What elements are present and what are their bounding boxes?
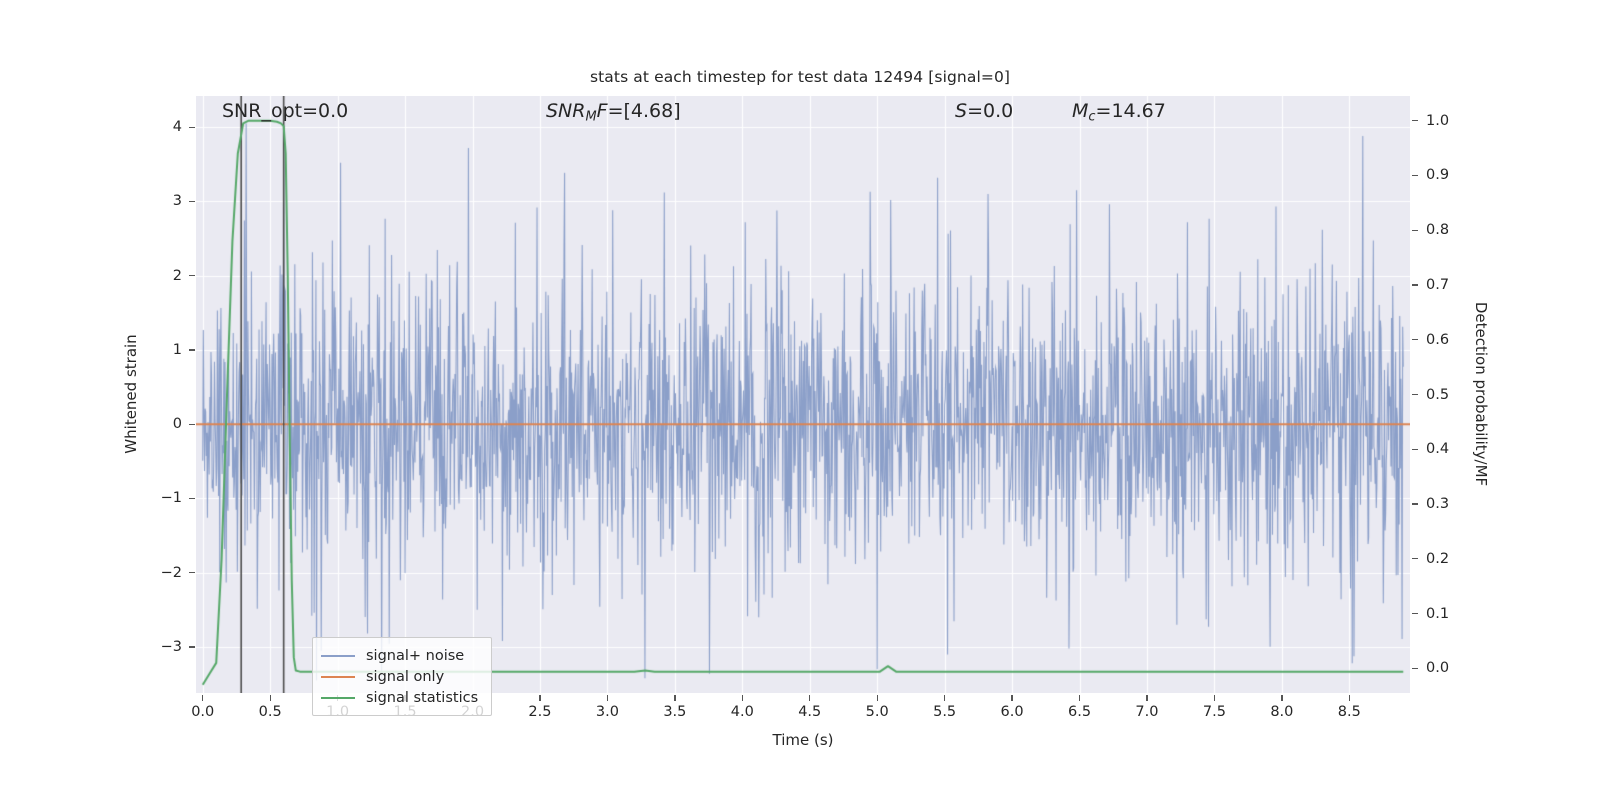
y-tick-label-right: 0.6 [1426,332,1449,348]
y-tick-label-right: 0.4 [1426,441,1449,457]
annotation-snr-mf-label2: F [597,100,608,122]
x-tick-mark [1011,695,1012,701]
annotation-chirp-mass-sub: c [1088,110,1095,125]
legend-item-signal-statistics[interactable]: signal statistics [321,687,481,708]
y-axis-label-right: Detection probability/MF [1472,302,1490,486]
y-tick-label-left: 0 [138,416,182,432]
annotation-snr-opt: SNR_opt=0.0 [222,100,348,122]
x-tick-mark [809,695,810,701]
plot-area[interactable] [196,96,1410,693]
x-tick-mark [742,695,743,701]
x-tick-label: 3.5 [663,704,686,720]
x-tick-mark [1349,695,1350,701]
x-tick-label: 0.5 [259,704,282,720]
annotation-s-stat-eq: = [967,100,983,122]
x-tick-mark [607,695,608,701]
annotation-snr-mf-value: [4.68] [623,100,680,122]
x-tick-mark [270,695,271,701]
y-tick-label-right: 0.1 [1426,606,1449,622]
y-tick-label-left: 2 [138,268,182,284]
x-tick-mark [944,695,945,701]
legend-item-signal-noise[interactable]: signal+ noise [321,645,481,666]
y-tick-mark-left [189,127,195,128]
annotation-chirp-mass: Mc=14.67 [1072,100,1166,125]
y-tick-mark-left [189,424,195,425]
x-tick-mark [539,695,540,701]
annotation-chirp-mass-label: M [1072,100,1088,122]
x-tick-mark [202,695,203,701]
x-tick-label: 8.5 [1338,704,1361,720]
annotation-s-stat: S=0.0 [955,100,1013,122]
y-tick-mark-right [1412,394,1418,395]
y-tick-label-right: 0.7 [1426,277,1449,293]
x-tick-label: 4.0 [731,704,754,720]
x-tick-label: 5.5 [933,704,956,720]
y-tick-mark-right [1412,613,1418,614]
y-tick-label-left: 4 [138,119,182,135]
y-tick-label-right: 0.8 [1426,222,1449,238]
y-tick-mark-left [189,572,195,573]
x-tick-mark [1146,695,1147,701]
y-tick-mark-right [1412,339,1418,340]
y-tick-mark-right [1412,120,1418,121]
annotation-s-stat-label: S [955,100,967,122]
annotation-chirp-mass-value: 14.67 [1111,100,1165,122]
x-tick-label: 5.0 [866,704,889,720]
legend-item-signal-only[interactable]: signal only [321,666,481,687]
annotation-snr-mf-sub: M [585,110,596,125]
y-tick-label-right: 0.0 [1426,660,1449,676]
annotation-snr-opt-text: SNR_opt=0.0 [222,100,348,122]
y-tick-label-right: 0.3 [1426,496,1449,512]
annotation-snr-mf: SNRMF=[4.68] [546,100,681,125]
x-tick-label: 3.0 [596,704,619,720]
y-tick-label-right: 1.0 [1426,113,1449,129]
x-tick-label: 8.0 [1270,704,1293,720]
y-tick-mark-right [1412,503,1418,504]
x-tick-mark [1214,695,1215,701]
x-tick-mark [1079,695,1080,701]
annotation-s-stat-value: 0.0 [983,100,1013,122]
y-tick-mark-left [189,275,195,276]
y-tick-label-right: 0.2 [1426,551,1449,567]
x-tick-mark [674,695,675,701]
figure: stats at each timestep for test data 124… [0,0,1600,800]
y-tick-label-left: −3 [138,639,182,655]
annotation-snr-mf-label: SNR [546,100,585,122]
y-tick-mark-left [189,498,195,499]
y-tick-mark-left [189,349,195,350]
y-tick-label-left: 1 [138,342,182,358]
legend-swatch-signal-statistics [321,697,355,699]
y-tick-label-left: 3 [138,193,182,209]
annotation-snr-mf-eq: = [608,100,624,122]
x-tick-label: 2.5 [528,704,551,720]
legend-label-signal-noise: signal+ noise [366,648,464,664]
chart-title: stats at each timestep for test data 124… [0,68,1600,86]
legend-label-signal-statistics: signal statistics [366,690,478,706]
y-tick-mark-right [1412,230,1418,231]
x-tick-label: 7.5 [1203,704,1226,720]
y-tick-label-left: −2 [138,565,182,581]
y-tick-mark-left [189,646,195,647]
x-tick-label: 0.0 [191,704,214,720]
y-tick-mark-right [1412,175,1418,176]
x-tick-mark [877,695,878,701]
y-tick-mark-left [189,201,195,202]
x-tick-label: 6.5 [1068,704,1091,720]
plot-canvas [196,96,1410,693]
legend-swatch-signal-noise [321,655,355,657]
x-tick-label: 6.0 [1001,704,1024,720]
y-tick-mark-right [1412,284,1418,285]
x-tick-label: 4.5 [798,704,821,720]
y-tick-mark-right [1412,668,1418,669]
y-tick-label-right: 0.5 [1426,387,1449,403]
x-tick-label: 7.0 [1135,704,1158,720]
y-tick-label-right: 0.9 [1426,167,1449,183]
y-tick-mark-right [1412,449,1418,450]
legend-swatch-signal-only [321,676,355,678]
y-tick-label-left: −1 [138,490,182,506]
annotation-chirp-mass-eq: = [1096,100,1112,122]
x-tick-mark [1281,695,1282,701]
legend-label-signal-only: signal only [366,669,444,685]
y-tick-mark-right [1412,558,1418,559]
x-axis-label: Time (s) [773,731,834,749]
legend[interactable]: signal+ noise signal only signal statist… [312,637,492,716]
